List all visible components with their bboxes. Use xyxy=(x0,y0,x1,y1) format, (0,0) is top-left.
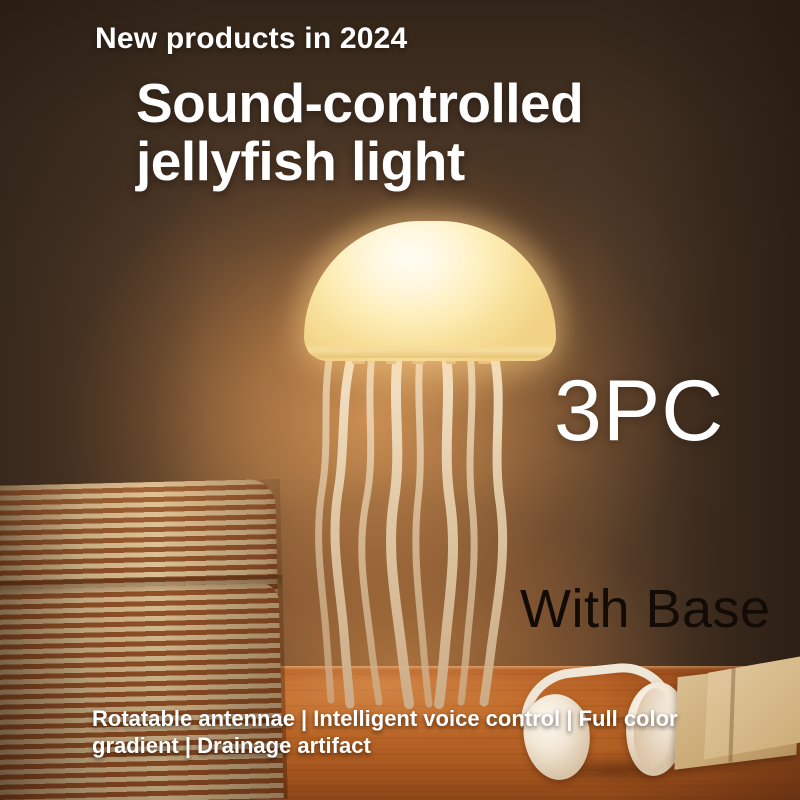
eyebrow-text: New products in 2024 xyxy=(95,22,407,56)
lamp-dome-rim xyxy=(306,344,554,358)
feature-list-text: Rotatable antennae | Intelligent voice c… xyxy=(92,706,752,760)
title-line-2: jellyfish light xyxy=(136,132,756,190)
quantity-badge: 3PC xyxy=(554,362,724,461)
base-badge: With Base xyxy=(520,578,771,640)
title-line-1: Sound-controlled xyxy=(136,72,583,134)
product-banner: New products in 2024 Sound-controlled je… xyxy=(0,0,800,800)
page-title: Sound-controlled jellyfish light xyxy=(136,74,756,191)
